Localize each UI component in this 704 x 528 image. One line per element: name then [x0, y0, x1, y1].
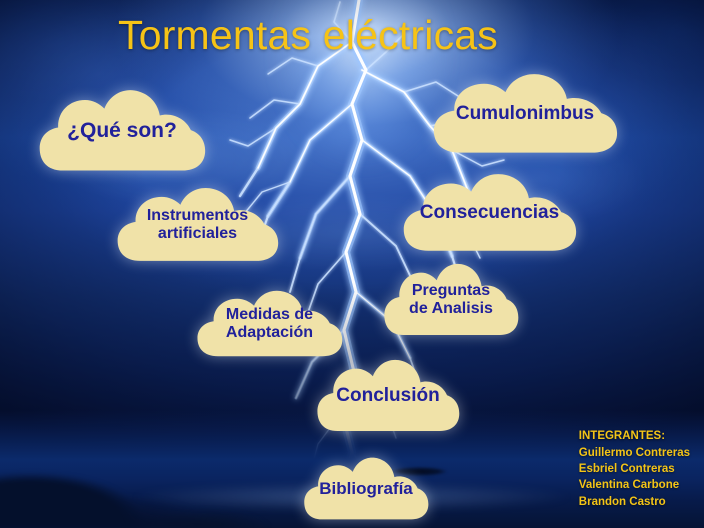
cloud-node-label-medidas: Medidas deAdaptación — [220, 306, 319, 342]
cloud-node-label-consecuencias: Consecuencias — [414, 202, 565, 224]
cloud-node-consecuencias[interactable]: Consecuencias — [402, 172, 577, 254]
credits-heading: INTEGRANTES: — [579, 428, 690, 444]
cloud-node-label-instrumentos: Instrumentosartificiales — [141, 207, 254, 243]
cloud-node-cumulonimbus[interactable]: Cumulonimbus — [432, 72, 618, 156]
cloud-node-conclusion[interactable]: Conclusión — [316, 358, 460, 434]
cloud-node-label-cumulonimbus: Cumulonimbus — [450, 103, 600, 125]
cloud-node-label-preguntas: Preguntasde Analisis — [403, 282, 499, 318]
cloud-node-bibliografia[interactable]: Bibliografía — [303, 456, 429, 522]
credits-name-2: Valentina Carbone — [579, 477, 690, 493]
cloud-node-label-que-son: ¿Qué son? — [61, 119, 183, 143]
credits-block: INTEGRANTES: Guillermo Contreras Esbriel… — [579, 428, 690, 510]
cloud-node-label-bibliografia: Bibliografía — [313, 479, 419, 498]
cloud-node-preguntas[interactable]: Preguntasde Analisis — [383, 262, 519, 338]
cloud-node-label-conclusion: Conclusión — [330, 385, 445, 407]
cloud-node-que-son[interactable]: ¿Qué son? — [38, 88, 206, 174]
slide-canvas: Tormentas eléctricas ¿Qué son?Cumulonimb… — [0, 0, 704, 528]
page-title: Tormentas eléctricas — [118, 12, 498, 59]
cloud-node-medidas[interactable]: Medidas deAdaptación — [196, 289, 343, 359]
cloud-node-instrumentos[interactable]: Instrumentosartificiales — [116, 186, 279, 264]
credits-name-3: Brandon Castro — [579, 494, 690, 510]
credits-name-1: Esbriel Contreras — [579, 461, 690, 477]
shoreline-silhouette — [0, 454, 288, 528]
credits-name-0: Guillermo Contreras — [579, 445, 690, 461]
